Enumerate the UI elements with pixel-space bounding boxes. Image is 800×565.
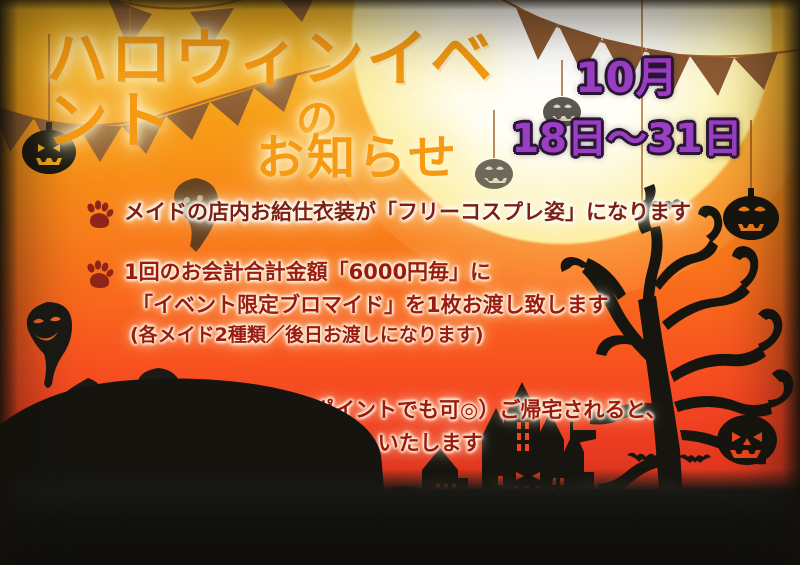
paw-print-icon <box>84 200 114 230</box>
page-subtitle: お知らせ <box>256 118 459 188</box>
event-date-range: 18日〜31日 <box>508 106 746 164</box>
vignette-right <box>782 0 800 565</box>
list-item-text: 「イベント限定ブロマイド」を1枚お渡し致します <box>132 289 609 322</box>
list-item-text: メイドの店内お給仕衣装が「フリーコスプレ姿」になります <box>124 196 691 229</box>
vignette-left <box>0 0 18 565</box>
event-month: 10月 <box>552 44 702 105</box>
list-item-text: 1回のお会計合計金額「6000円毎」に <box>124 256 609 289</box>
paw-print-icon <box>84 260 114 290</box>
jack-o-lantern-icon <box>712 404 782 468</box>
hanging-string <box>640 0 644 210</box>
list-item: メイドの店内お給仕衣装が「フリーコスプレ姿」になります <box>84 196 691 230</box>
list-item: 1回のお会計合計金額「6000円毎」に 「イベント限定ブロマイド」を1枚お渡し致… <box>84 256 609 351</box>
list-item-note: (各メイド2種類／後日お渡しになります) <box>130 321 609 350</box>
bat-icon <box>678 452 712 468</box>
vignette-top <box>0 0 800 10</box>
halloween-event-poster: ハロウィンイベント の お知らせ 10月 18日〜31日 メイドの店内お給仕衣装… <box>0 0 800 565</box>
ground-silhouette <box>0 469 800 565</box>
